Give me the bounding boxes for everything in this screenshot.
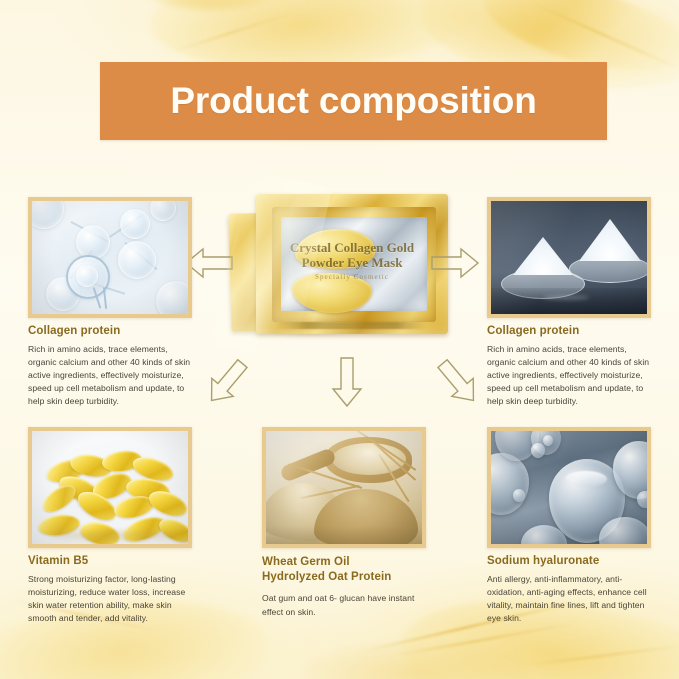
package-inner-foil (272, 207, 436, 322)
eye-patch-upper (294, 227, 376, 271)
ingredient-card-collagen-left: Collagen protein Rich in amino acids, tr… (28, 197, 192, 408)
ingredient-card-vitamin-b5: Vitamin B5 Strong moisturizing factor, l… (28, 427, 192, 625)
card-description: Anti allergy, anti-inflammatory, anti-ox… (487, 573, 651, 625)
eye-patch-lower (291, 272, 372, 315)
arrow-to-vitamin-b5 (205, 358, 249, 406)
golden-softgel-capsules-photo (28, 427, 192, 548)
card-description: Strong moisturizing factor, long-lasting… (28, 573, 192, 625)
card-description: Oat gum and oat 6- glucan have instant e… (262, 592, 426, 618)
card-description: Rich in amino acids, trace elements, org… (28, 343, 192, 408)
package-front-sachet: Crystal Collagen Gold Powder Eye Mask Sp… (256, 194, 448, 334)
product-package-image: Crystal Collagen Gold Powder Eye Mask Sp… (228, 186, 448, 336)
package-bottom-print (278, 322, 426, 329)
ingredient-card-wheat-germ-oil: Wheat Germ Oil Hydrolyzed Oat Protein Oa… (262, 427, 426, 619)
white-powder-petri-dishes-photo (487, 197, 651, 318)
ingredient-card-collagen-right: Collagen protein Rich in amino acids, tr… (487, 197, 651, 408)
arrow-to-wheat-germ-oil (330, 358, 364, 406)
header-banner: Product composition (100, 62, 607, 140)
card-title: Collagen protein (28, 324, 192, 339)
arrow-to-sodium-hyaluronate (436, 358, 480, 406)
page-title: Product composition (170, 80, 536, 122)
card-description: Rich in amino acids, trace elements, org… (487, 343, 651, 408)
water-droplets-macro-photo (487, 427, 651, 548)
card-title: Collagen protein (487, 324, 651, 339)
arrow-to-collagen-left (186, 246, 232, 280)
wheat-grains-oat-scoop-photo (262, 427, 426, 548)
ingredient-card-sodium-hyaluronate: Sodium hyaluronate Anti allergy, anti-in… (487, 427, 651, 625)
arrow-to-collagen-right (432, 246, 478, 280)
package-silver-tray (281, 217, 427, 311)
card-title: Wheat Germ Oil Hydrolyzed Oat Protein (262, 555, 426, 584)
card-title: Sodium hyaluronate (487, 554, 651, 569)
card-title: Vitamin B5 (28, 554, 192, 569)
collagen-molecule-bubbles-photo (28, 197, 192, 318)
